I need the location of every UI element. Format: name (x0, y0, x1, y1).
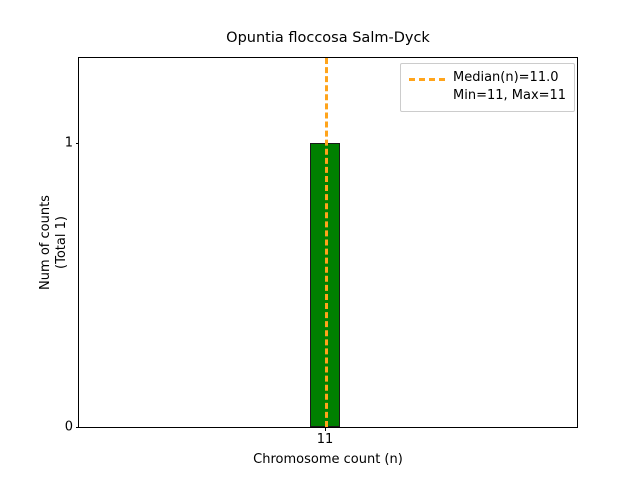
y-axis-label-line1-wrap: Num of counts (37, 57, 53, 428)
legend-dashed-line-swatch (409, 78, 445, 81)
plot-area (79, 58, 577, 427)
x-axis-label: Chromosome count (n) (78, 452, 578, 467)
legend-label-median: Median(n)=11.0 (453, 70, 566, 86)
y-axis-label-line2: (Total 1) (54, 216, 69, 269)
plot-axes-frame: 1 0 11 Median(n)=11.0 Min=11, Max=11 (78, 57, 578, 428)
legend-text-group: Median(n)=11.0 Min=11, Max=11 (453, 70, 566, 105)
chart-title: Opuntia floccosa Salm-Dyck (78, 30, 578, 46)
xtick-mark-11 (325, 427, 326, 431)
y-axis-label-line1: Num of counts (38, 195, 53, 290)
ytick-mark-1 (76, 143, 80, 144)
figure-canvas: Opuntia floccosa Salm-Dyck 1 0 11 (0, 0, 640, 480)
median-line (325, 58, 328, 427)
ytick-mark-0 (76, 427, 80, 428)
xtick-label-11: 11 (317, 433, 334, 446)
y-axis-label-line2-wrap: (Total 1) (53, 57, 69, 428)
chart-legend[interactable]: Median(n)=11.0 Min=11, Max=11 (400, 63, 575, 112)
legend-label-minmax: Min=11, Max=11 (453, 88, 566, 104)
